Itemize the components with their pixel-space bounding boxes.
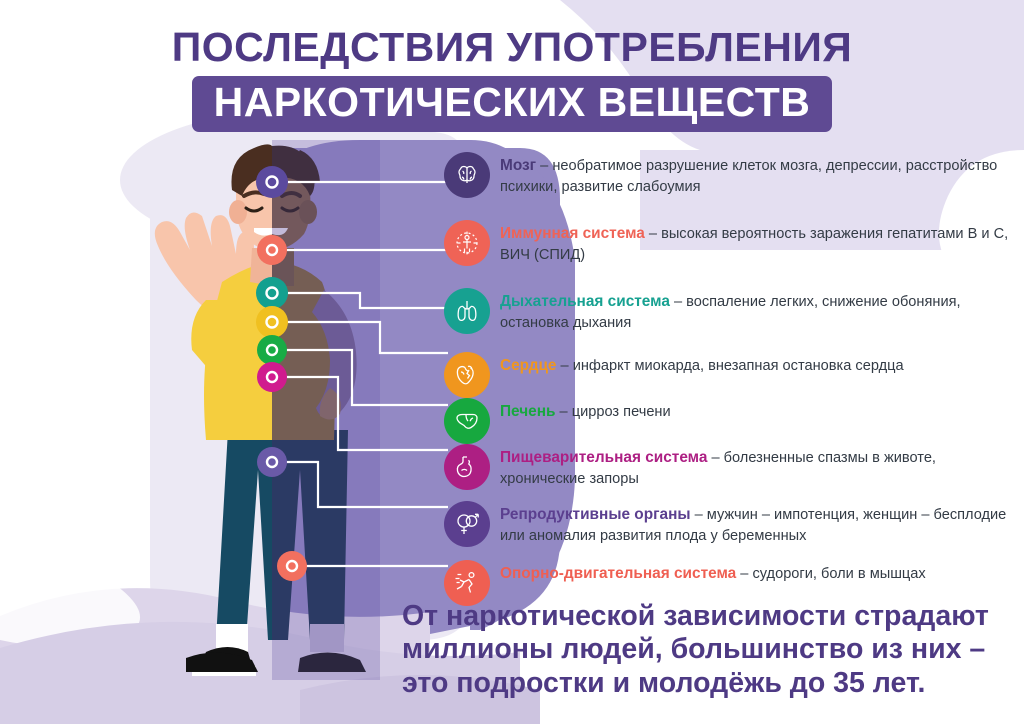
list-item-text: Иммунная система – высокая вероятность з… (500, 220, 1020, 266)
list-item-text: Печень – цирроз печени (500, 398, 671, 423)
list-item-text: Дыхательная система – воспаление легких,… (500, 288, 1020, 334)
list-item: Сердце – инфаркт миокарда, внезапная ост… (444, 352, 904, 398)
list-item-text: Сердце – инфаркт миокарда, внезапная ост… (500, 352, 904, 377)
immune-system-icon (444, 220, 490, 266)
list-item-desc: цирроз печени (572, 404, 671, 420)
list-item-title: Репродуктивные органы (500, 506, 691, 523)
footer-line-1: От наркотической зависимости страдают (402, 600, 1012, 633)
list-item: Дыхательная система – воспаление легких,… (444, 288, 1020, 334)
marker-heart (256, 306, 288, 338)
heart-icon (444, 352, 490, 398)
list-item-text: Мозг – необратимое разрушение клеток моз… (500, 152, 1020, 198)
list-item-title: Сердце (500, 357, 556, 374)
list-item-title: Пищеварительная система (500, 449, 707, 466)
liver-icon (444, 398, 490, 444)
marker-lungs (256, 277, 288, 309)
list-item-title: Иммунная система (500, 225, 645, 242)
infographic-poster: ПОСЛЕДСТВИЯ УПОТРЕБЛЕНИЯ НАРКОТИЧЕСКИХ В… (0, 0, 1024, 724)
brain-icon (444, 152, 490, 198)
list-item-text: Репродуктивные органы – мужчин – импотен… (500, 501, 1020, 547)
list-item-title: Опорно-двигательная система (500, 565, 736, 582)
title-line-2-band: НАРКОТИЧЕСКИХ ВЕЩЕСТВ (192, 76, 833, 132)
list-item-title: Мозг (500, 157, 536, 174)
poster-title: ПОСЛЕДСТВИЯ УПОТРЕБЛЕНИЯ НАРКОТИЧЕСКИХ В… (0, 26, 1024, 132)
marker-muscles (277, 551, 307, 581)
marker-liver (257, 335, 287, 365)
list-item: Печень – цирроз печени (444, 398, 671, 444)
marker-reproductive (257, 447, 287, 477)
marker-stomach (257, 362, 287, 392)
list-item: Пищеварительная система – болезненные сп… (444, 444, 1020, 490)
marker-immune (257, 235, 287, 265)
reproductive-organs-icon (444, 501, 490, 547)
list-item-desc: необратимое разрушение клеток мозга, деп… (500, 158, 997, 195)
list-item-desc: судороги, боли в мышцах (752, 566, 925, 582)
footer-statement: От наркотической зависимости страдают ми… (402, 600, 1012, 700)
footer-line-2: миллионы людей, большинство из них – (402, 633, 1012, 666)
list-item-title: Дыхательная система (500, 293, 670, 310)
list-item: Иммунная система – высокая вероятность з… (444, 220, 1020, 266)
title-line-1: ПОСЛЕДСТВИЯ УПОТРЕБЛЕНИЯ (0, 26, 1024, 69)
list-item-text: Опорно-двигательная система – судороги, … (500, 560, 926, 585)
stomach-icon (444, 444, 490, 490)
list-item-title: Печень (500, 403, 556, 420)
footer-highlight: до 35 лет. (790, 667, 926, 699)
list-item-text: Пищеварительная система – болезненные сп… (500, 444, 1020, 490)
list-item: Репродуктивные органы – мужчин – импотен… (444, 501, 1020, 547)
footer-line-3: это подростки и молодёжь до 35 лет. (402, 667, 1012, 700)
list-item: Мозг – необратимое разрушение клеток моз… (444, 152, 1020, 198)
list-item-desc: инфаркт миокарда, внезапная остановка се… (573, 358, 904, 374)
marker-brain (256, 166, 288, 198)
lungs-icon (444, 288, 490, 334)
